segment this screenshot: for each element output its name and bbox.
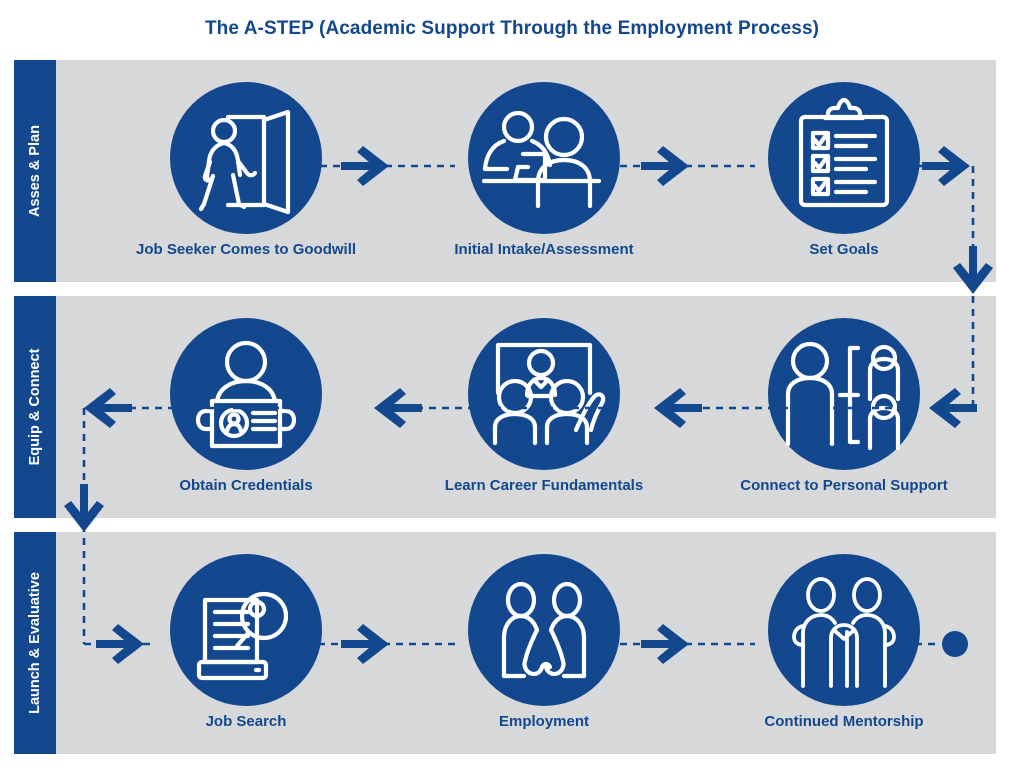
handshake-icon (468, 554, 620, 706)
step-job-seeker-comes-to-goodwill[interactable]: Job Seeker Comes to Goodwill (136, 82, 356, 259)
person-holding-id-card-icon (170, 318, 322, 470)
band-label-text: Asses & Plan (27, 125, 43, 217)
step-continued-mentorship[interactable]: Continued Mentorship (734, 554, 954, 731)
step-job-search[interactable]: Job Search (136, 554, 356, 731)
step-connect-to-personal-support[interactable]: Connect to Personal Support (734, 318, 954, 495)
step-label: Set Goals (734, 242, 954, 259)
band-label-text: Launch & Evaluative (27, 572, 43, 714)
page-title: The A-STEP (Academic Support Through the… (0, 18, 1024, 40)
step-initial-intake-assessment[interactable]: Initial Intake/Assessment (434, 82, 654, 259)
band-label-launch-and-evaluative: Launch & Evaluative (14, 532, 56, 754)
classroom-training-icon (468, 318, 620, 470)
band-label-assess-and-plan: Asses & Plan (14, 60, 56, 282)
person-walking-through-door-icon (170, 82, 322, 234)
band-equip-and-connect: Equip & Connect Obtain Credentials (14, 296, 996, 518)
step-learn-career-fundamentals[interactable]: Learn Career Fundamentals (434, 318, 654, 495)
band-label-text: Equip & Connect (27, 349, 43, 466)
step-obtain-credentials[interactable]: Obtain Credentials (136, 318, 356, 495)
document-with-magnifier-icon (170, 554, 322, 706)
step-label: Continued Mentorship (734, 714, 954, 731)
step-label: Employment (434, 714, 654, 731)
two-people-at-desk-icon (468, 82, 620, 234)
step-label: Connect to Personal Support (734, 478, 954, 495)
step-label: Obtain Credentials (136, 478, 356, 495)
three-people-group-icon (768, 554, 920, 706)
band-launch-and-evaluative: Launch & Evaluative Job Search (14, 532, 996, 754)
person-connected-to-support-network-icon (768, 318, 920, 470)
band-assess-and-plan: Asses & Plan (14, 60, 996, 282)
step-employment[interactable]: Employment (434, 554, 654, 731)
step-label: Job Search (136, 714, 356, 731)
step-set-goals[interactable]: Set Goals (734, 82, 954, 259)
step-label: Initial Intake/Assessment (434, 242, 654, 259)
clipboard-checklist-icon (768, 82, 920, 234)
step-label: Job Seeker Comes to Goodwill (136, 242, 356, 259)
band-label-equip-and-connect: Equip & Connect (14, 296, 56, 518)
step-label: Learn Career Fundamentals (434, 478, 654, 495)
